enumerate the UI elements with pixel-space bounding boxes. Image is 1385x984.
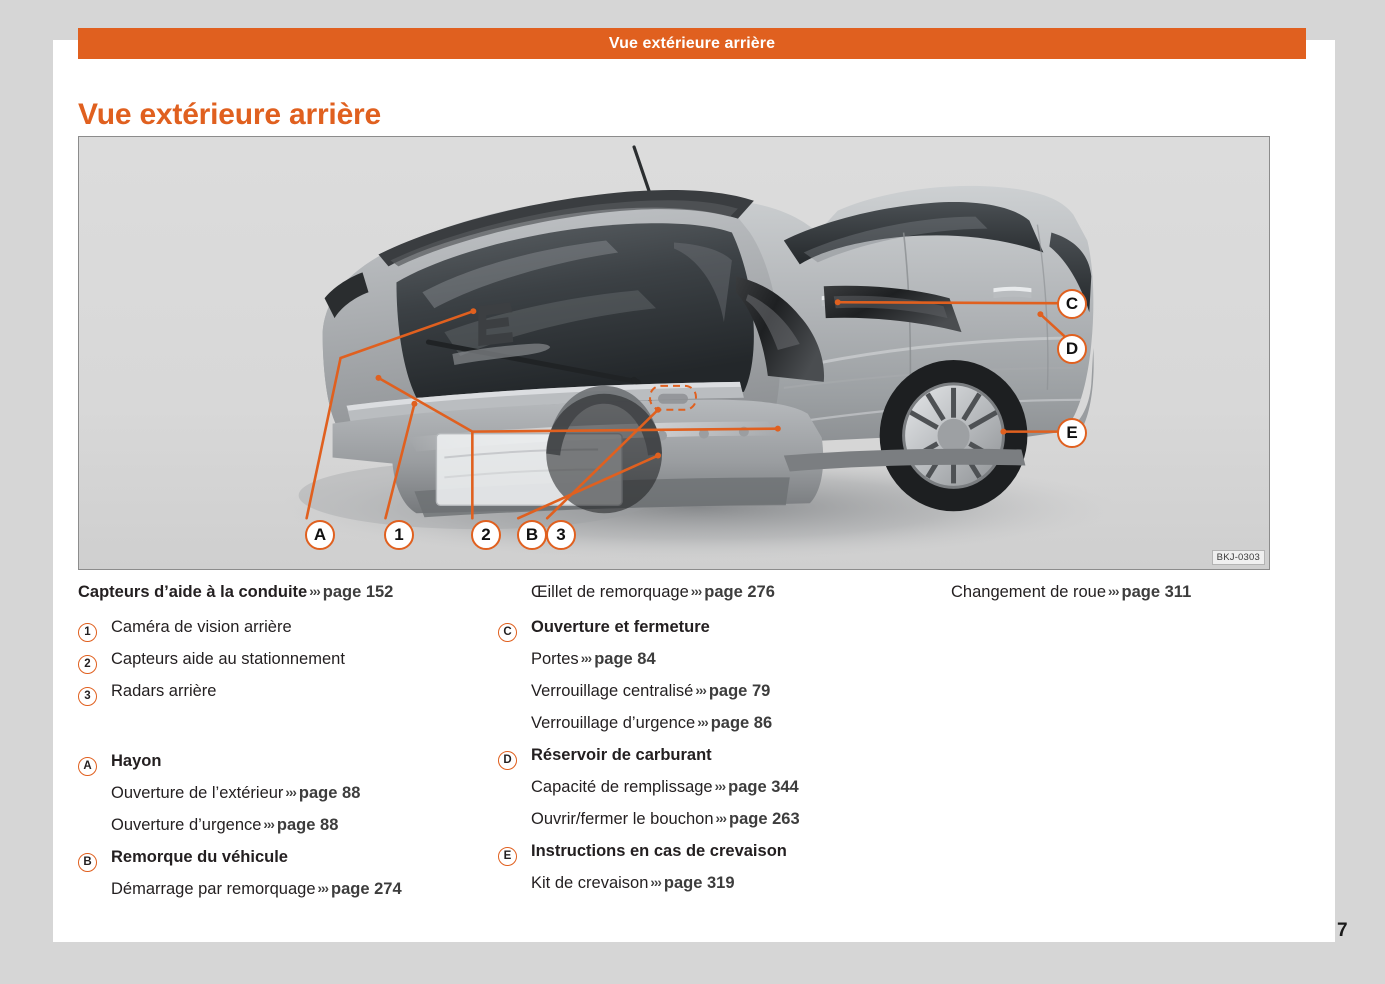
chevron-icon: ››› (316, 881, 332, 896)
legend-label: Remorque du véhicule (111, 848, 498, 867)
legend-label: Changement de roue›››page 311 (918, 583, 1270, 602)
legend-column-driving-assist: Capteurs d’aide à la conduite›››page 152… (78, 583, 498, 912)
legend-row: Kit de crevaison›››page 319 (498, 874, 918, 906)
callout-3: 3 (546, 520, 576, 550)
legend-label: Caméra de vision arrière (111, 618, 498, 637)
legend-label: Verrouillage centralisé›››page 79 (498, 682, 918, 701)
legend-row: Capacité de remplissage›››page 344 (498, 778, 918, 810)
legend-label: Hayon (111, 752, 498, 771)
callout-d: D (1057, 334, 1087, 364)
marker-c: C (498, 623, 517, 642)
legend-row: Ouverture de l’extérieur›››page 88 (78, 784, 498, 816)
running-header-title: Vue extérieure arrière (609, 35, 775, 53)
legend: Capteurs d’aide à la conduite›››page 152… (78, 583, 1270, 912)
legend-row: E Instructions en cas de crevaison (498, 842, 918, 874)
page-reference[interactable]: page 84 (594, 650, 655, 668)
legend-label: Verrouillage d’urgence›››page 86 (498, 714, 918, 733)
legend-row: Verrouillage d’urgence›››page 86 (498, 714, 918, 746)
chevron-icon: ››› (695, 715, 711, 730)
legend-label: Capteurs aide au stationnement (111, 650, 498, 669)
legend-row: Verrouillage centralisé›››page 79 (498, 682, 918, 714)
marker-a: A (78, 757, 97, 776)
callout-c: C (1057, 289, 1087, 319)
figure-code-label: BKJ-0303 (1212, 550, 1265, 565)
legend-row: Ouverture d’urgence›››page 88 (78, 816, 498, 848)
legend-spacer (78, 714, 498, 752)
callout-a: A (305, 520, 335, 550)
page-reference[interactable]: page 152 (323, 583, 394, 601)
chevron-icon: ››› (261, 817, 277, 832)
legend-label: Ouverture et fermeture (531, 618, 918, 637)
legend-column-opening-closing: Œillet de remorquage›››page 276 C Ouvert… (498, 583, 918, 912)
callout-e: E (1057, 418, 1087, 448)
legend-row: B Remorque du véhicule (78, 848, 498, 880)
figure-rear-exterior-view: C D E A 1 2 B 3 BKJ-0303 (78, 136, 1270, 570)
chevron-icon: ››› (689, 584, 705, 599)
legend-label: Ouvrir/fermer le bouchon›››page 263 (498, 810, 918, 829)
marker-3: 3 (78, 687, 97, 706)
legend-label: Radars arrière (111, 682, 498, 701)
legend-row: Capteurs d’aide à la conduite›››page 152 (78, 583, 498, 615)
page-reference[interactable]: page 274 (331, 880, 402, 898)
chevron-icon: ››› (307, 584, 323, 599)
chevron-icon: ››› (693, 683, 709, 698)
page-reference[interactable]: page 88 (277, 816, 338, 834)
marker-2: 2 (78, 655, 97, 674)
chevron-icon: ››› (283, 785, 299, 800)
page-number: 7 (1337, 920, 1348, 942)
marker-e: E (498, 847, 517, 866)
legend-row: Ouvrir/fermer le bouchon›››page 263 (498, 810, 918, 842)
page-reference[interactable]: page 88 (299, 784, 360, 802)
callout-1: 1 (384, 520, 414, 550)
legend-row: Œillet de remorquage›››page 276 (498, 583, 918, 615)
running-header-bar: Vue extérieure arrière (78, 28, 1306, 59)
marker-d: D (498, 751, 517, 770)
legend-row: 3 Radars arrière (78, 682, 498, 714)
legend-row: Démarrage par remorquage›››page 274 (78, 880, 498, 912)
marker-1: 1 (78, 623, 97, 642)
page-reference[interactable]: page 263 (729, 810, 800, 828)
legend-row: Portes›››page 84 (498, 650, 918, 682)
legend-label: Capteurs d’aide à la conduite›››page 152 (78, 583, 498, 602)
legend-label: Kit de crevaison›››page 319 (498, 874, 918, 893)
page-reference[interactable]: page 311 (1122, 583, 1192, 601)
callout-b: B (517, 520, 547, 550)
legend-row: 2 Capteurs aide au stationnement (78, 650, 498, 682)
legend-label: Démarrage par remorquage›››page 274 (78, 880, 498, 899)
legend-row: A Hayon (78, 752, 498, 784)
chevron-icon: ››› (714, 811, 730, 826)
legend-label: Ouverture d’urgence›››page 88 (78, 816, 498, 835)
page-reference[interactable]: page 79 (709, 682, 770, 700)
legend-row: C Ouverture et fermeture (498, 618, 918, 650)
chevron-icon: ››› (1106, 584, 1122, 599)
legend-row: 1 Caméra de vision arrière (78, 618, 498, 650)
page-reference[interactable]: page 276 (704, 583, 775, 601)
legend-label: Œillet de remorquage›››page 276 (498, 583, 918, 602)
legend-label: Portes›››page 84 (498, 650, 918, 669)
chevron-icon: ››› (648, 875, 664, 890)
legend-label: Instructions en cas de crevaison (531, 842, 918, 861)
legend-row: D Réservoir de carburant (498, 746, 918, 778)
page-title: Vue extérieure arrière (78, 98, 381, 132)
legend-row: Changement de roue›››page 311 (918, 583, 1270, 615)
page-reference[interactable]: page 86 (711, 714, 772, 732)
marker-b: B (78, 853, 97, 872)
car-illustration (79, 137, 1269, 569)
page-reference[interactable]: page 344 (728, 778, 799, 796)
chevron-icon: ››› (579, 651, 595, 666)
legend-label: Ouverture de l’extérieur›››page 88 (78, 784, 498, 803)
legend-label: Capacité de remplissage›››page 344 (498, 778, 918, 797)
page-reference[interactable]: page 319 (664, 874, 735, 892)
legend-label: Réservoir de carburant (531, 746, 918, 765)
legend-column-wheel-change: Changement de roue›››page 311 (918, 583, 1270, 912)
callout-2: 2 (471, 520, 501, 550)
chevron-icon: ››› (713, 779, 729, 794)
